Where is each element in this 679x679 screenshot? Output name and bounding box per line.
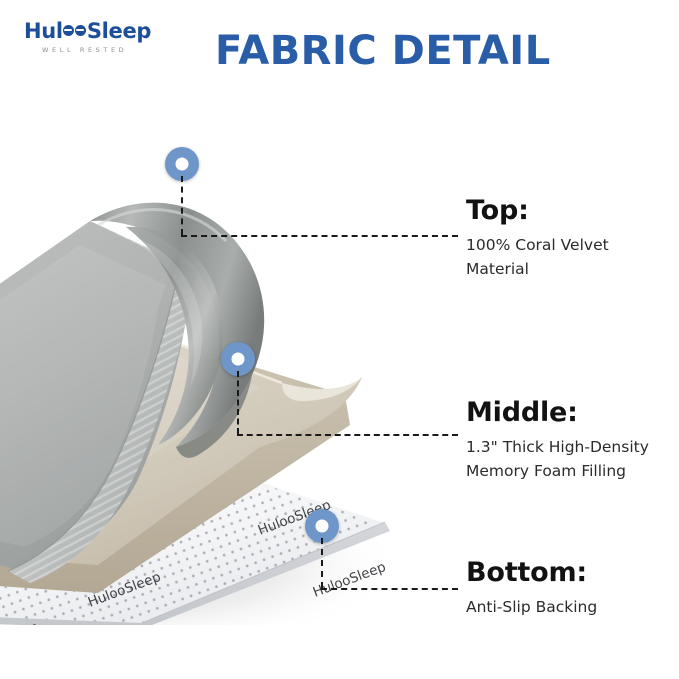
callout-top: Top: 100% Coral Velvet Material [466, 196, 676, 281]
callout-top-title: Top: [466, 196, 676, 226]
leader-line-middle-vertical [237, 371, 239, 434]
callout-middle-title: Middle: [466, 398, 676, 428]
callout-top-description: 100% Coral Velvet Material [466, 233, 676, 281]
logo-text-suffix: Sleep [87, 19, 151, 43]
brand-logo: HulSleep WELL RESTED [24, 20, 154, 62]
brand-logo-wordmark: HulSleep [24, 20, 154, 42]
callout-top-desc-line2: Material [466, 257, 676, 281]
callout-middle-desc-line1: 1.3" Thick High-Density [466, 435, 676, 459]
callout-bottom: Bottom: Anti-Slip Backing [466, 558, 676, 619]
page-title: FABRIC DETAIL [215, 28, 551, 74]
callout-middle-desc-line2: Memory Foam Filling [466, 459, 676, 483]
leader-line-top-horizontal [181, 235, 458, 237]
leader-line-bottom-horizontal [321, 588, 458, 590]
callout-top-desc-line1: 100% Coral Velvet [466, 233, 676, 257]
callout-middle-description: 1.3" Thick High-Density Memory Foam Fill… [466, 435, 676, 483]
logo-text-prefix: Hul [24, 19, 63, 43]
fabric-detail-infographic: HulSleep WELL RESTED FABRIC DETAIL [0, 0, 679, 679]
brand-tagline: WELL RESTED [42, 46, 154, 54]
callout-bottom-desc-line1: Anti-Slip Backing [466, 595, 676, 619]
sleeping-eyes-oo-icon [63, 24, 87, 40]
leader-line-top-vertical [181, 176, 183, 235]
leader-line-bottom-vertical [321, 538, 323, 588]
callout-bottom-title: Bottom: [466, 558, 676, 588]
callout-bottom-description: Anti-Slip Backing [466, 595, 676, 619]
callout-middle: Middle: 1.3" Thick High-Density Memory F… [466, 398, 676, 483]
leader-line-middle-horizontal [237, 434, 458, 436]
